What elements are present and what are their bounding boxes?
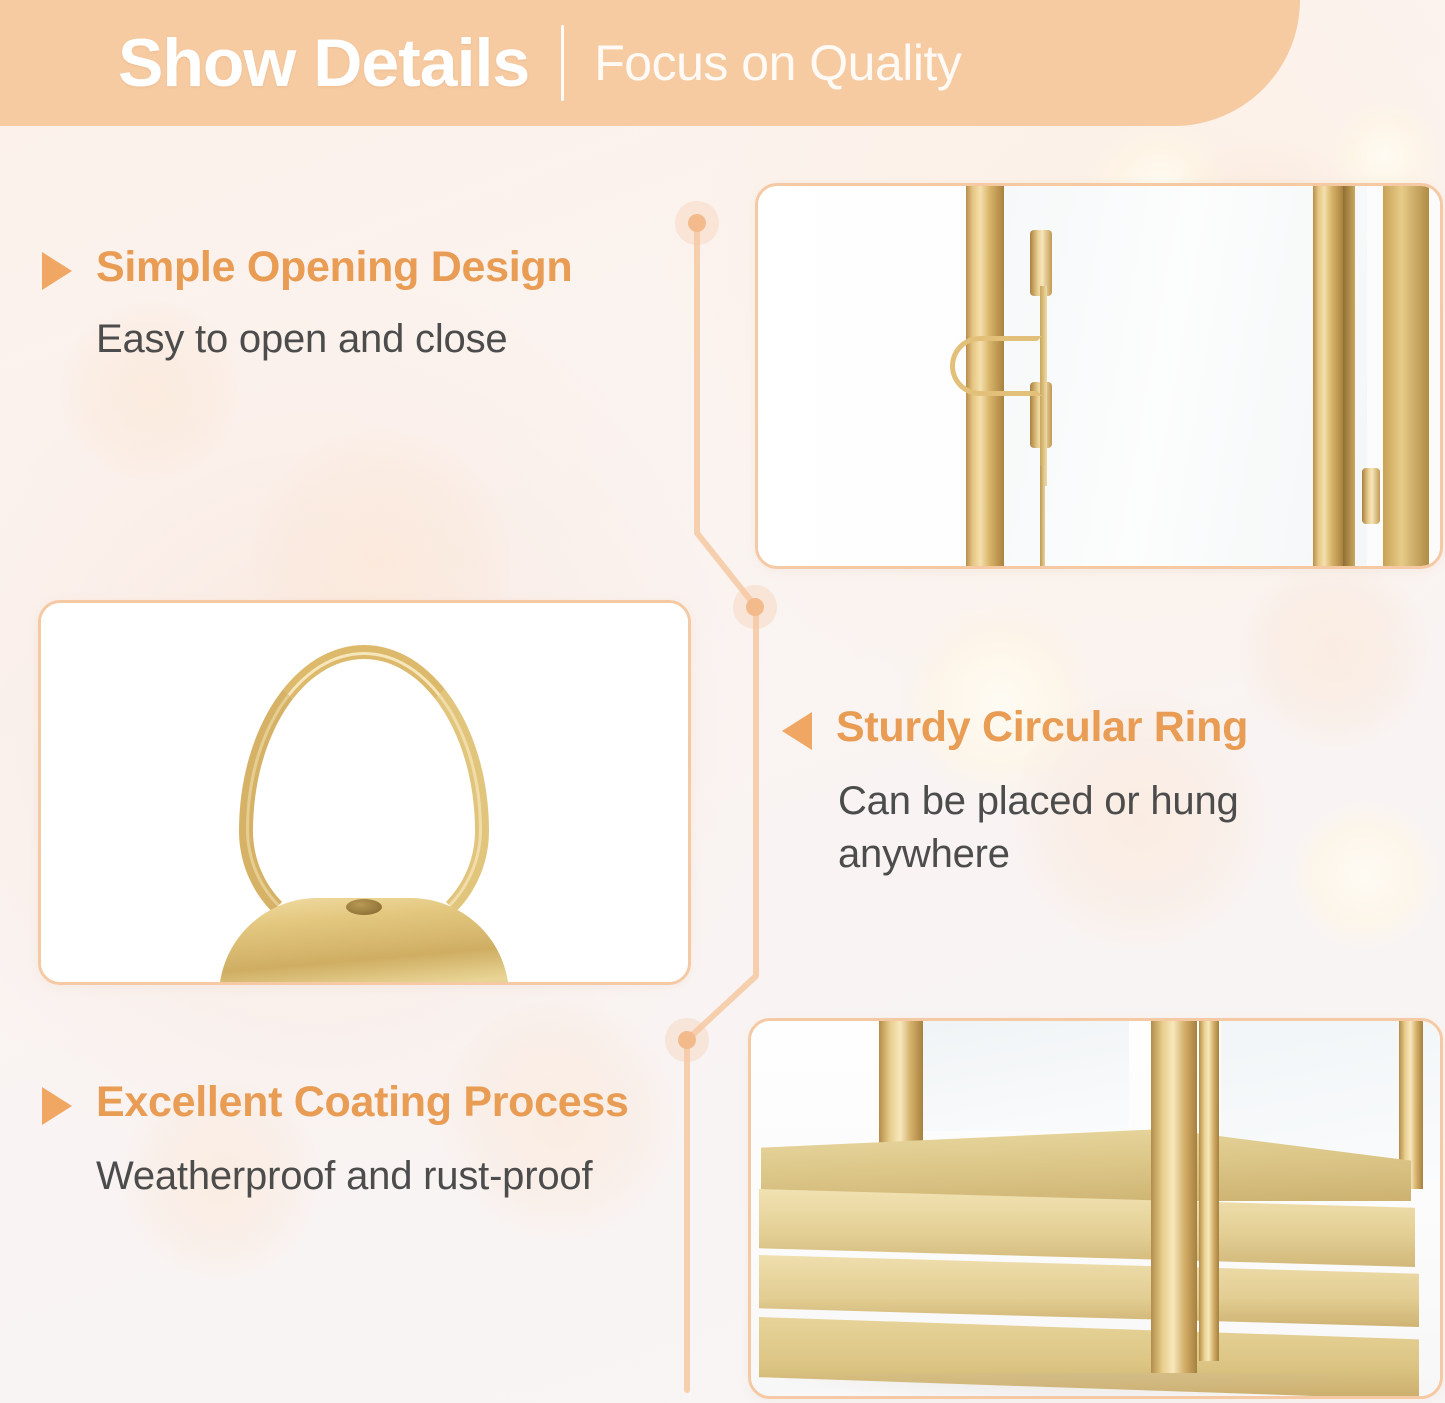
feature-heading-row: Excellent Coating Process — [42, 1075, 662, 1130]
feature-title: Excellent Coating Process — [96, 1075, 629, 1130]
feature-sturdy-circular-ring: Sturdy Circular Ring Can be placed or hu… — [782, 700, 1412, 881]
hinge-latch-photo[interactable] — [755, 183, 1443, 569]
latch-clasp-icon — [950, 336, 1042, 396]
page-title: Show Details — [118, 29, 529, 97]
base-photo-artwork — [751, 1021, 1440, 1396]
base-shadow — [771, 1373, 1411, 1399]
triangle-right-icon — [42, 1087, 72, 1125]
base-frame-photo[interactable] — [748, 1018, 1443, 1399]
frame-post — [1383, 186, 1429, 566]
connector-dot-icon — [688, 214, 706, 232]
feature-description: Weatherproof and rust-proof — [96, 1150, 662, 1203]
page-subtitle: Focus on Quality — [594, 38, 961, 88]
connector-dot-icon — [678, 1031, 696, 1049]
triangle-left-icon — [782, 712, 812, 750]
header-banner: Show Details Focus on Quality — [0, 0, 1300, 126]
frame-post — [1151, 1021, 1197, 1373]
frame-post — [1343, 186, 1355, 566]
ring-handle-photo[interactable] — [38, 600, 691, 985]
frame-post — [1313, 186, 1343, 566]
hinge-photo-artwork — [758, 186, 1440, 566]
feature-title: Sturdy Circular Ring — [836, 700, 1248, 755]
handle-photo-artwork — [41, 603, 688, 982]
feature-excellent-coating-process: Excellent Coating Process Weatherproof a… — [42, 1075, 662, 1203]
feature-heading-row: Sturdy Circular Ring — [782, 700, 1412, 755]
feature-title: Simple Opening Design — [96, 240, 572, 295]
connector-dot-icon — [746, 598, 764, 616]
lid-knob — [346, 899, 382, 915]
base-slab — [759, 1255, 1419, 1327]
latch-arm — [1040, 466, 1045, 569]
feature-heading-row: Simple Opening Design — [42, 240, 662, 295]
frame-post — [1199, 1021, 1219, 1361]
hinge-knuckle — [1362, 468, 1380, 524]
triangle-right-icon — [42, 252, 72, 290]
feature-simple-opening-design: Simple Opening Design Easy to open and c… — [42, 240, 662, 366]
feature-description: Can be placed or hung anywhere — [838, 775, 1412, 881]
feature-description: Easy to open and close — [96, 313, 662, 366]
vertical-divider — [561, 25, 564, 101]
